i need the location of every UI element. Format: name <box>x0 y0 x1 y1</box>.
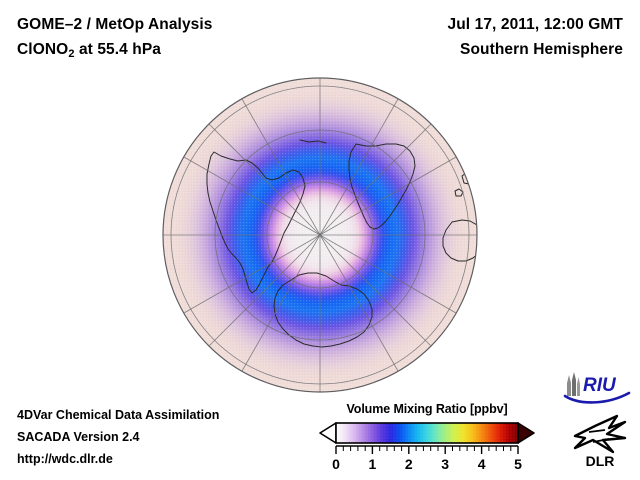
pressure-level-label: at 55.4 hPa <box>75 41 162 58</box>
polar-map-panel <box>0 60 640 400</box>
colorbar-title: Volume Mixing Ratio [ppbv] <box>318 402 536 416</box>
instrument-title: GOME–2 / MetOp Analysis <box>17 12 213 37</box>
header-left-block: GOME–2 / MetOp Analysis ClONO2 at 55.4 h… <box>17 12 213 64</box>
dlr-wordmark: DLR <box>586 453 615 469</box>
graticule-layer <box>163 78 477 392</box>
colorbar-min-arrow <box>320 423 336 443</box>
colorbar-tick-label-4: 4 <box>478 456 486 472</box>
dlr-emblem-icon <box>575 416 625 452</box>
data-center-url[interactable]: http://wdc.dlr.de <box>17 448 219 470</box>
header-right-block: Jul 17, 2011, 12:00 GMT Southern Hemisph… <box>448 12 623 62</box>
dlr-logo: DLR <box>569 408 631 470</box>
species-name: ClONO <box>17 41 68 58</box>
colorbar-minor-ticks <box>343 446 511 451</box>
colorbar: 0 1 2 3 4 5 <box>318 419 536 475</box>
colorbar-tick-label-5: 5 <box>514 456 522 472</box>
version-label: SACADA Version 2.4 <box>17 426 219 448</box>
colorbar-tick-label-2: 2 <box>405 456 413 472</box>
colorbar-block: Volume Mixing Ratio [ppbv] <box>318 402 536 475</box>
colorbar-tick-label-1: 1 <box>369 456 377 472</box>
colorbar-tick-labels: 0 1 2 3 4 5 <box>332 456 522 472</box>
riu-spires-icon <box>567 372 580 396</box>
colorbar-gradient-bar <box>336 423 518 443</box>
species-subscript: 2 <box>68 48 74 60</box>
colorbar-tick-label-3: 3 <box>441 456 449 472</box>
colorbar-ticks <box>336 446 518 454</box>
colorbar-max-arrow <box>518 423 534 443</box>
footer-text-block: 4DVar Chemical Data Assimilation SACADA … <box>17 404 219 470</box>
colorbar-tick-label-0: 0 <box>332 456 340 472</box>
method-label: 4DVar Chemical Data Assimilation <box>17 404 219 426</box>
riu-logo: RIU <box>563 372 631 406</box>
hemisphere-label: Southern Hemisphere <box>448 37 623 62</box>
timestamp-label: Jul 17, 2011, 12:00 GMT <box>448 12 623 37</box>
riu-wordmark: RIU <box>583 375 617 396</box>
orthographic-globe <box>0 60 640 400</box>
meridian-lines <box>163 78 477 392</box>
